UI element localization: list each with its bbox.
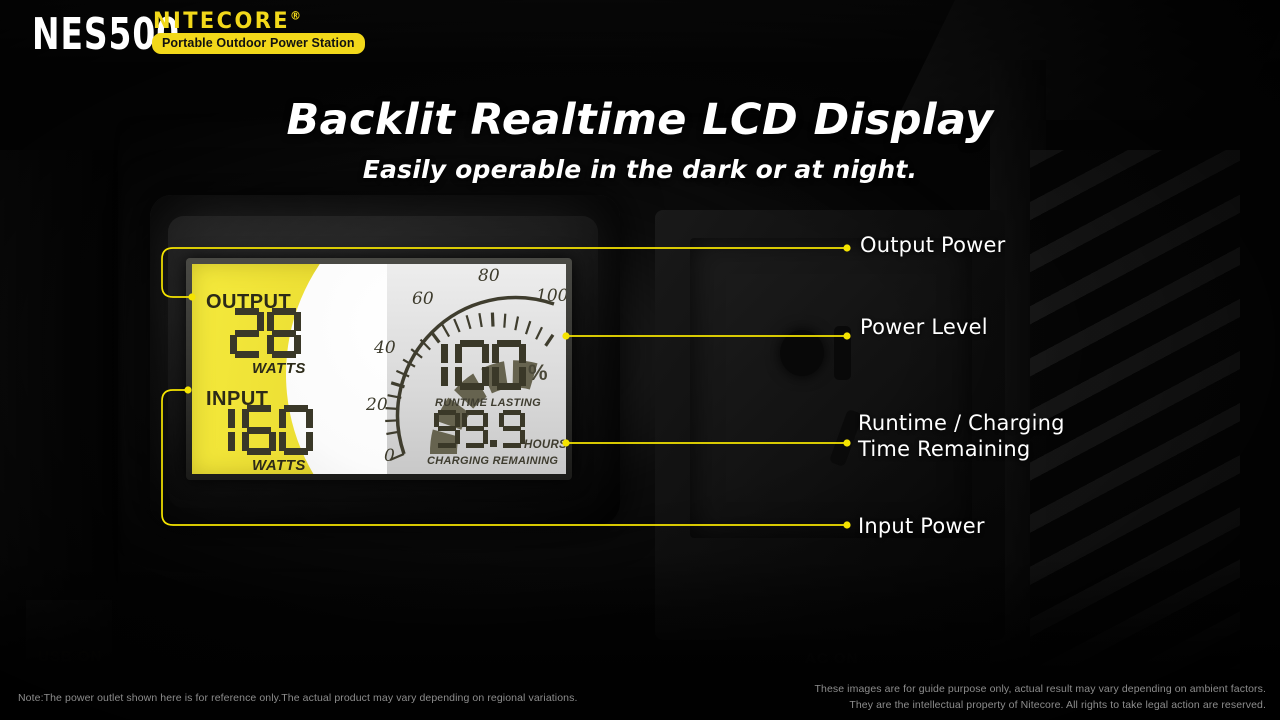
lcd-output-value — [230, 308, 301, 358]
seg-digit — [462, 410, 488, 448]
seg-digit — [434, 410, 460, 448]
footer-note-right: These images are for guide purpose only,… — [814, 682, 1266, 714]
page-title: Backlit Realtime LCD Display — [0, 95, 1280, 145]
footer-right-line2: They are the intellectual property of Ni… — [814, 698, 1266, 714]
lcd-screen: OUTPUT WATTS INPUT WATTS — [192, 264, 566, 474]
footer-right-line1: These images are for guide purpose only,… — [814, 682, 1266, 698]
gauge-tick-60: 60 — [412, 289, 434, 309]
lcd-charging-label: CHARGING REMAINING — [427, 455, 558, 467]
lcd-output-unit: WATTS — [252, 360, 306, 377]
product-tagline: Portable Outdoor Power Station — [152, 33, 365, 54]
lcd-input-value — [222, 405, 313, 455]
seg-digit — [455, 340, 489, 390]
seg-digit — [242, 405, 276, 455]
page-header: NES500 NITECORE® Portable Outdoor Power … — [0, 0, 1280, 62]
seg-digit — [435, 340, 452, 390]
gauge-tick-100: 100 — [536, 286, 566, 306]
lcd-runtime-label: RUNTIME LASTING — [435, 397, 541, 409]
lcd-runtime-value — [434, 410, 525, 448]
lcd-runtime-unit: HOURS — [524, 439, 566, 451]
footer-note-left: Note:The power outlet shown here is for … — [18, 692, 577, 704]
brand-logo: NITECORE® — [153, 8, 303, 33]
page-subtitle: Easily operable in the dark or at night. — [0, 155, 1280, 184]
gauge-tick-20: 20 — [366, 395, 388, 415]
brand-name: NITECORE — [153, 8, 290, 33]
seg-digit — [499, 410, 525, 448]
seg-digit — [230, 308, 264, 358]
lcd-percent-value — [435, 340, 526, 390]
lcd-percent-readout: % — [435, 340, 548, 390]
seg-digit — [492, 340, 526, 390]
lcd-percent-sign: % — [528, 360, 548, 386]
seg-digit — [267, 308, 301, 358]
lcd-input-unit: WATTS — [252, 457, 306, 474]
registered-mark: ® — [290, 9, 303, 23]
gauge-tick-0: 0 — [384, 446, 395, 466]
gauge-tick-80: 80 — [478, 266, 500, 286]
title-block: Backlit Realtime LCD Display Easily oper… — [0, 95, 1280, 184]
gauge-tick-40: 40 — [374, 338, 396, 358]
seg-digit — [222, 405, 239, 455]
decimal-point — [490, 440, 497, 447]
seg-digit — [279, 405, 313, 455]
